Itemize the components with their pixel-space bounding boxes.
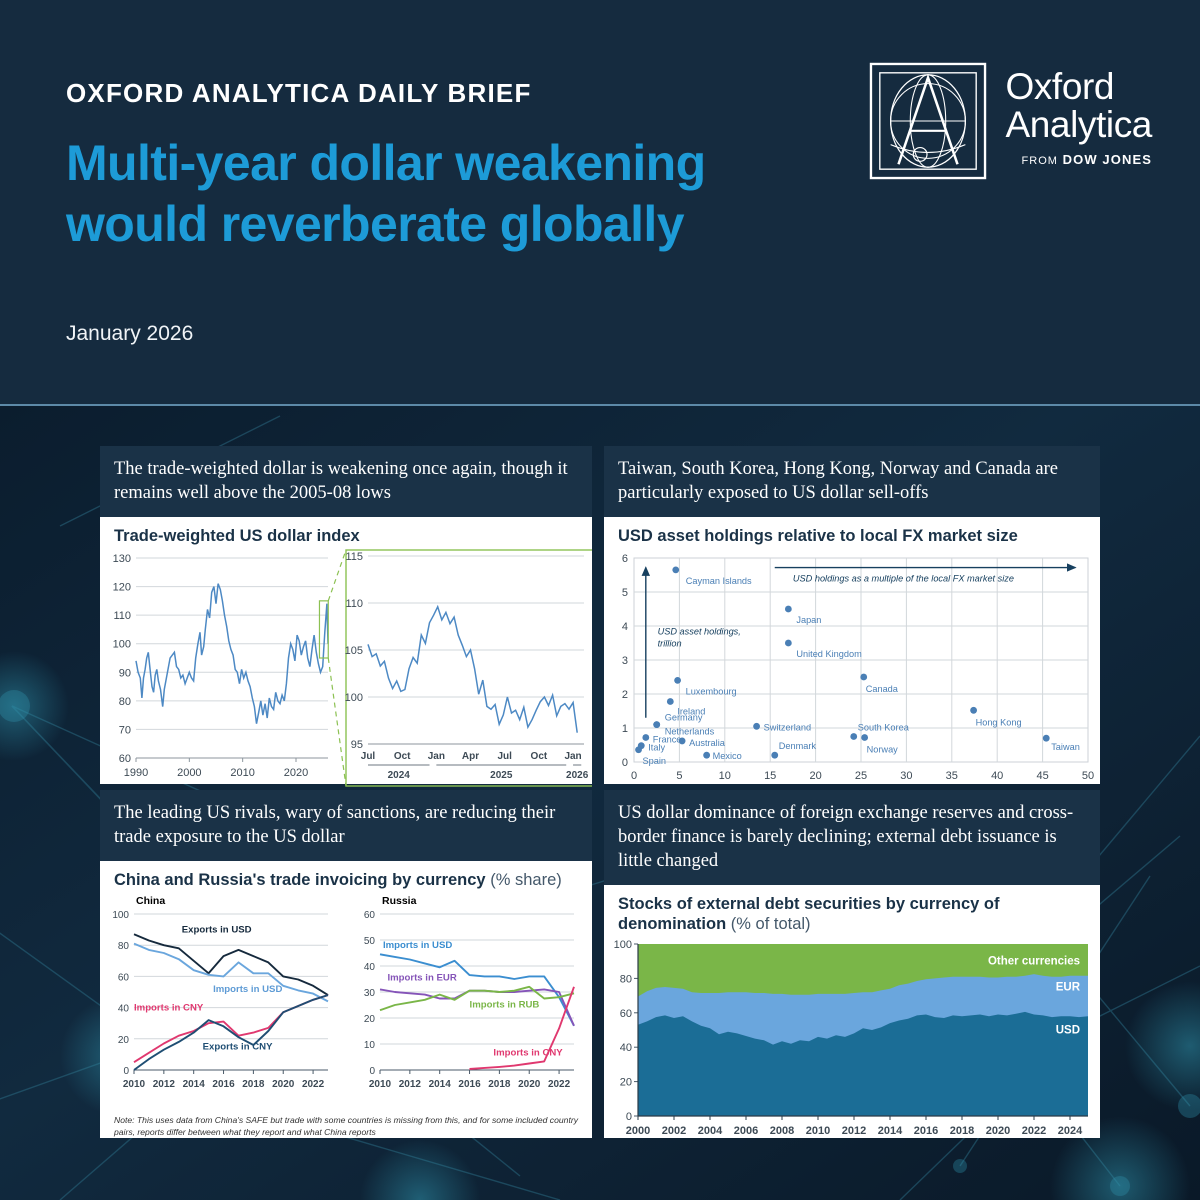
svg-text:4: 4 (622, 621, 628, 633)
svg-text:2024: 2024 (388, 770, 411, 781)
svg-text:110: 110 (345, 598, 363, 610)
svg-text:Imports in RUB: Imports in RUB (470, 1000, 540, 1011)
panel-headline: Taiwan, South Korea, Hong Kong, Norway a… (604, 446, 1100, 517)
svg-text:30: 30 (364, 988, 376, 999)
svg-text:USD holdings as a multiple of: USD holdings as a multiple of the local … (793, 574, 1014, 584)
svg-text:90: 90 (119, 668, 131, 680)
svg-text:Mexico: Mexico (713, 751, 742, 761)
chart-trade-weighted-dollar: 6070809010011012013019902000201020209510… (100, 548, 592, 803)
svg-text:100: 100 (113, 639, 131, 651)
svg-text:2025: 2025 (490, 770, 513, 781)
panel-headline: The leading US rivals, wary of sanctions… (100, 790, 592, 861)
svg-text:1990: 1990 (124, 767, 148, 779)
svg-text:30: 30 (900, 770, 912, 782)
svg-text:Cayman Islands: Cayman Islands (686, 576, 752, 586)
svg-text:2016: 2016 (914, 1125, 938, 1137)
svg-text:Italy: Italy (648, 743, 665, 753)
svg-text:40: 40 (620, 1043, 632, 1055)
svg-text:2016: 2016 (458, 1079, 481, 1090)
svg-text:60: 60 (118, 973, 130, 984)
svg-text:2014: 2014 (878, 1125, 903, 1137)
svg-text:2016: 2016 (212, 1079, 235, 1090)
svg-text:USD: USD (1056, 1025, 1080, 1037)
logo-line-oxford: Oxford (1005, 68, 1152, 106)
svg-text:2026: 2026 (566, 770, 589, 781)
svg-text:100: 100 (345, 692, 363, 704)
svg-text:0: 0 (369, 1066, 375, 1077)
svg-text:Taiwan: Taiwan (1051, 742, 1080, 752)
chart-usd-holdings-scatter: 012345605101520253035404550USD asset hol… (604, 548, 1100, 801)
svg-text:2000: 2000 (626, 1125, 650, 1137)
chart-note: Note: This uses data from China's SAFE b… (100, 1115, 592, 1146)
title-line-1: Multi-year dollar weakening (66, 133, 866, 194)
svg-text:100: 100 (112, 910, 129, 921)
svg-text:2018: 2018 (242, 1079, 265, 1090)
svg-text:2000: 2000 (177, 767, 201, 779)
svg-text:2012: 2012 (842, 1125, 866, 1137)
svg-text:South Korea: South Korea (858, 723, 910, 733)
svg-text:Exports in CNY: Exports in CNY (203, 1042, 273, 1053)
svg-text:80: 80 (119, 696, 131, 708)
svg-text:Imports in USD: Imports in USD (213, 984, 282, 995)
svg-text:Exports in USD: Exports in USD (182, 925, 252, 936)
svg-text:2018: 2018 (950, 1125, 974, 1137)
svg-text:2002: 2002 (662, 1125, 686, 1137)
svg-text:2014: 2014 (183, 1079, 206, 1090)
panel-external-debt: US dollar dominance of foreign exchange … (604, 790, 1100, 1138)
svg-text:40: 40 (991, 770, 1003, 782)
twdollar-chart-svg: 6070809010011012013019902000201020209510… (100, 548, 592, 798)
oxford-analytica-logo: Oxford Analytica FROM DOW JONES (869, 62, 1152, 180)
title-line-2: would reverberate globally (66, 194, 866, 255)
svg-text:2010: 2010 (230, 767, 254, 779)
svg-text:United Kingdom: United Kingdom (796, 649, 862, 659)
svg-text:2020: 2020 (272, 1079, 295, 1090)
svg-text:5: 5 (676, 770, 682, 782)
svg-text:2020: 2020 (986, 1125, 1010, 1137)
svg-text:5: 5 (622, 587, 628, 599)
svg-text:USD asset holdings,: USD asset holdings, (658, 627, 741, 637)
svg-text:Jul: Jul (497, 751, 512, 762)
svg-text:Imports in CNY: Imports in CNY (134, 1003, 204, 1014)
svg-text:60: 60 (364, 910, 376, 921)
svg-text:Luxembourg: Luxembourg (686, 687, 737, 697)
svg-text:10: 10 (364, 1040, 376, 1051)
svg-text:25: 25 (855, 770, 867, 782)
svg-text:35: 35 (946, 770, 958, 782)
svg-text:15: 15 (764, 770, 776, 782)
svg-text:100: 100 (614, 939, 632, 951)
svg-text:6: 6 (622, 553, 628, 565)
svg-text:Norway: Norway (867, 745, 899, 755)
svg-text:10: 10 (719, 770, 731, 782)
svg-text:2012: 2012 (153, 1079, 176, 1090)
svg-text:20: 20 (809, 770, 821, 782)
svg-text:130: 130 (113, 553, 131, 565)
svg-text:Jan: Jan (428, 751, 445, 762)
logo-source-word: DOW JONES (1063, 152, 1152, 167)
svg-text:120: 120 (113, 582, 131, 594)
subtitle-light: (% of total) (731, 915, 811, 933)
svg-text:EUR: EUR (1056, 982, 1081, 994)
svg-text:50: 50 (1082, 770, 1094, 782)
svg-text:0: 0 (123, 1066, 129, 1077)
svg-text:Imports in EUR: Imports in EUR (387, 973, 456, 984)
svg-text:2006: 2006 (734, 1125, 758, 1137)
area-chart-svg: 0204060801002000200220042006200820102012… (604, 936, 1100, 1150)
svg-text:Oct: Oct (394, 751, 411, 762)
panel-subtitle: China and Russia's trade invoicing by cu… (100, 861, 592, 892)
svg-text:Japan: Japan (796, 615, 821, 625)
svg-text:Spain: Spain (643, 756, 667, 766)
brief-eyebrow: OXFORD ANALYTICA DAILY BRIEF (66, 78, 532, 109)
chart-external-debt-area: 0204060801002000200220042006200820102012… (604, 936, 1100, 1155)
svg-text:2012: 2012 (399, 1079, 422, 1090)
panel-subtitle: USD asset holdings relative to local FX … (604, 517, 1100, 548)
svg-text:105: 105 (345, 645, 363, 657)
subtitle-bold: China and Russia's trade invoicing by cu… (114, 871, 486, 889)
svg-text:2022: 2022 (302, 1079, 325, 1090)
svg-text:2020: 2020 (284, 767, 308, 779)
svg-text:95: 95 (351, 739, 363, 751)
page-title: Multi-year dollar weakening would reverb… (66, 133, 866, 255)
panel-subtitle: Trade-weighted US dollar index (100, 517, 592, 548)
svg-text:Denmark: Denmark (779, 741, 817, 751)
panel-usd-asset-holdings: Taiwan, South Korea, Hong Kong, Norway a… (604, 446, 1100, 784)
svg-text:3: 3 (622, 655, 628, 667)
svg-text:110: 110 (113, 610, 131, 622)
svg-text:20: 20 (620, 1077, 632, 1089)
svg-text:0: 0 (631, 770, 637, 782)
logo-from-word: FROM (1022, 155, 1058, 167)
svg-text:70: 70 (119, 725, 131, 737)
subtitle-light: (% share) (490, 871, 562, 889)
svg-text:Switzerland: Switzerland (764, 723, 812, 733)
svg-text:2010: 2010 (369, 1079, 392, 1090)
svg-text:Other currencies: Other currencies (988, 956, 1080, 968)
svg-text:2: 2 (622, 689, 628, 701)
svg-text:2022: 2022 (1022, 1125, 1046, 1137)
svg-text:Jul: Jul (361, 751, 376, 762)
svg-text:Apr: Apr (462, 751, 479, 762)
svg-text:80: 80 (118, 941, 130, 952)
svg-text:20: 20 (118, 1035, 130, 1046)
svg-text:60: 60 (620, 1008, 632, 1020)
svg-text:60: 60 (119, 753, 131, 765)
chart-china-russia-invoicing: China02040608010020102012201420162018202… (100, 892, 592, 1115)
scatter-chart-svg: 012345605101520253035404550USD asset hol… (604, 548, 1100, 796)
svg-text:2024: 2024 (1058, 1125, 1083, 1137)
invoicing-chart-svg: China02040608010020102012201420162018202… (100, 892, 592, 1110)
svg-text:40: 40 (118, 1004, 130, 1015)
panel-trade-invoicing: The leading US rivals, wary of sanctions… (100, 790, 592, 1138)
publication-date: January 2026 (66, 322, 193, 346)
svg-text:0: 0 (622, 757, 628, 769)
svg-text:trillion: trillion (658, 639, 682, 649)
svg-text:Imports in CNY: Imports in CNY (493, 1048, 563, 1059)
svg-text:1: 1 (622, 723, 628, 735)
hero-banner: OXFORD ANALYTICA DAILY BRIEF Multi-year … (0, 0, 1200, 406)
oxford-analytica-mark-icon (869, 62, 987, 180)
svg-text:Russia: Russia (382, 895, 417, 907)
svg-text:Canada: Canada (866, 684, 899, 694)
svg-text:Imports in USD: Imports in USD (383, 940, 452, 951)
svg-text:40: 40 (364, 962, 376, 973)
svg-text:45: 45 (1036, 770, 1048, 782)
svg-text:Hong Kong: Hong Kong (976, 718, 1022, 728)
svg-text:2020: 2020 (518, 1079, 541, 1090)
panel-headline: The trade-weighted dollar is weakening o… (100, 446, 592, 517)
svg-text:2010: 2010 (123, 1079, 146, 1090)
panel-trade-weighted-dollar: The trade-weighted dollar is weakening o… (100, 446, 592, 784)
svg-text:Germany: Germany (665, 713, 703, 723)
svg-text:2022: 2022 (548, 1079, 571, 1090)
svg-text:80: 80 (620, 974, 632, 986)
logo-from-dow-jones: FROM DOW JONES (1005, 152, 1152, 167)
svg-text:2014: 2014 (429, 1079, 452, 1090)
svg-text:Oct: Oct (531, 751, 548, 762)
svg-text:0: 0 (626, 1111, 632, 1123)
svg-text:2010: 2010 (806, 1125, 830, 1137)
svg-text:2018: 2018 (488, 1079, 511, 1090)
svg-text:Australia: Australia (689, 738, 726, 748)
logo-line-analytica: Analytica (1005, 106, 1152, 144)
panel-subtitle: Stocks of external debt securities by cu… (604, 885, 1100, 936)
svg-text:China: China (136, 895, 165, 907)
svg-text:20: 20 (364, 1014, 376, 1025)
panel-headline: US dollar dominance of foreign exchange … (604, 790, 1100, 885)
svg-text:115: 115 (345, 551, 363, 563)
svg-text:50: 50 (364, 936, 376, 947)
svg-text:Jan: Jan (564, 751, 581, 762)
svg-text:2008: 2008 (770, 1125, 794, 1137)
svg-text:2004: 2004 (698, 1125, 723, 1137)
